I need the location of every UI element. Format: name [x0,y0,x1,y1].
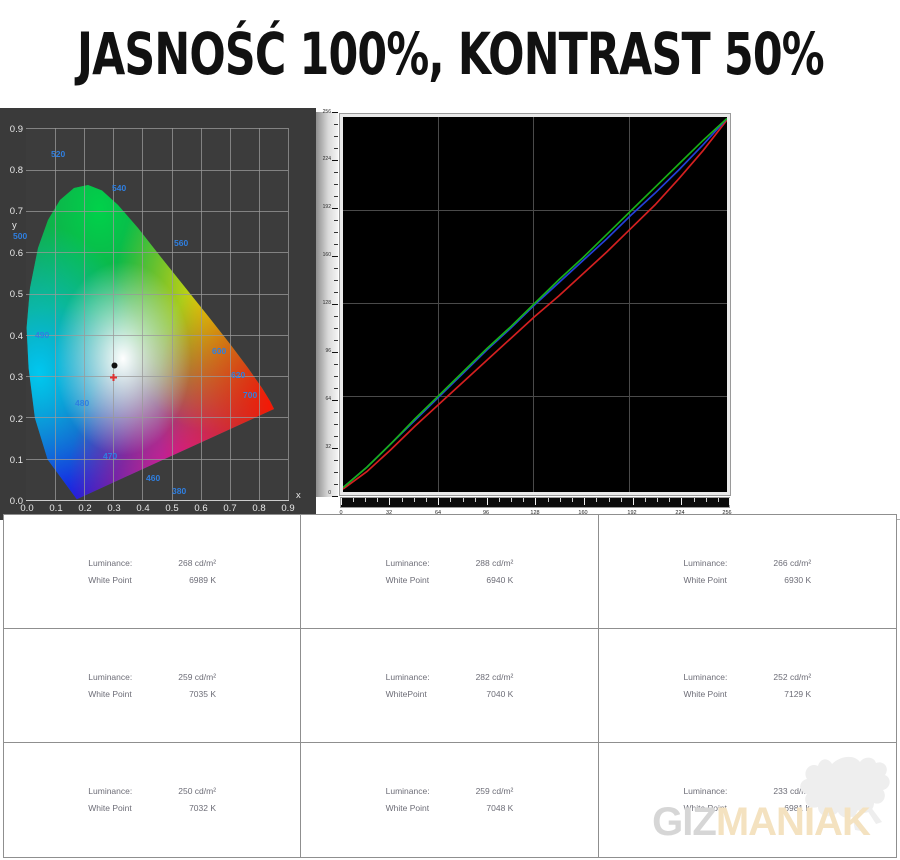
rgb-y-tick-224: 224 [323,157,331,162]
cie-y-tick-7: 0.7 [2,206,23,217]
cie-y-tick-6: 0.6 [2,248,23,259]
measurement-cell-6: Luminance:252 cd/m² White Point7129 K [599,629,896,743]
rgb-y-tick-32: 32 [325,445,331,450]
whitepoint-label: White Point [88,572,178,589]
cie-y-tick-1: 0.1 [2,455,23,466]
whitepoint-value: 7032 K [178,800,216,817]
whitepoint-value: 7129 K [773,686,811,703]
luminance-label: Luminance: [88,555,178,572]
cie-y-tick-3: 0.3 [2,372,23,383]
cie-x-tick-9: 0.9 [277,503,299,514]
rgb-curves [343,117,727,492]
cie-x-tick-7: 0.7 [219,503,241,514]
cie-plot-area [26,128,288,500]
luminance-label: Luminance: [386,783,476,800]
measurement-cell-2: Luminance:288 cd/m² White Point6940 K [301,515,598,629]
cie-chromaticity-panel: y x [0,108,316,520]
whitepoint-value: 6981 K [773,800,811,817]
wavelength-label-520: 520 [51,149,65,159]
cie-x-tick-0: 0.0 [16,503,38,514]
cie-x-axis-title: x [296,490,301,501]
cie-x-tick-6: 0.6 [190,503,212,514]
measurement-cell-8: Luminance:259 cd/m² White Point7048 K [301,743,598,857]
title-bar: JASNOŚĆ 100%, KONTRAST 50% [0,0,900,108]
whitepoint-label: White Point [683,800,773,817]
wavelength-label-540: 540 [112,183,126,193]
cie-y-tick-4: 0.4 [2,331,23,342]
cie-x-tick-8: 0.8 [248,503,270,514]
rgb-levels-panel: 256 224 192 160 128 96 64 [316,108,900,520]
wavelength-label-500: 500 [13,231,27,241]
whitepoint-value: 7035 K [178,686,216,703]
rgb-y-tick-0: 0 [328,491,331,496]
wavelength-label-560: 560 [174,238,188,248]
cie-x-tick-4: 0.4 [132,503,154,514]
whitepoint-label: White Point [386,572,476,589]
luminance-value: 259 cd/m² [178,669,216,686]
luminance-value: 259 cd/m² [476,783,514,800]
whitepoint-value: 7048 K [476,800,514,817]
luminance-value: 288 cd/m² [476,555,514,572]
luminance-label: Luminance: [386,669,476,686]
measurement-grid: Luminance:268 cd/m² White Point6989 K Lu… [3,514,897,858]
luminance-label: Luminance: [386,555,476,572]
wavelength-label-620: 620 [231,370,245,380]
luminance-value: 250 cd/m² [178,783,216,800]
rgb-x-ruler [340,497,730,508]
wavelength-label-380: 380 [172,486,186,496]
rgb-y-tick-128: 128 [323,301,331,306]
measurement-cell-9: Luminance:233 cd/m² White Point6981 K [599,743,896,857]
wavelength-label-700: 700 [243,390,257,400]
wavelength-label-470: 470 [103,451,117,461]
wavelength-label-490: 490 [35,330,49,340]
wavelength-label-480: 480 [75,398,89,408]
whitepoint-value: 7040 K [476,686,514,703]
luminance-value: 266 cd/m² [773,555,811,572]
rgb-y-tick-160: 160 [323,253,331,258]
rgb-y-tick-192: 192 [323,205,331,210]
measurement-cell-4: Luminance:259 cd/m² White Point7035 K [4,629,301,743]
measurement-cell-7: Luminance:250 cd/m² White Point7032 K [4,743,301,857]
page-title: JASNOŚĆ 100%, KONTRAST 50% [77,25,824,83]
luminance-value: 282 cd/m² [476,669,514,686]
wavelength-label-460: 460 [146,473,160,483]
cie-y-tick-9: 0.9 [2,124,23,135]
luminance-value: 252 cd/m² [773,669,811,686]
rgb-plot-area [340,114,730,495]
rgb-y-tick-96: 96 [325,349,331,354]
cie-gamut-shape [26,128,288,500]
measurement-panels: y x [0,108,900,520]
rgb-curve-green [343,118,727,487]
whitepoint-label: White Point [386,800,476,817]
whitepoint-label: White Point [88,800,178,817]
measurement-cell-5: Luminance:282 cd/m² WhitePoint7040 K [301,629,598,743]
wavelength-label-600: 600 [212,346,226,356]
luminance-label: Luminance: [683,555,773,572]
rgb-y-tick-256: 256 [323,110,331,115]
cie-x-tick-2: 0.2 [74,503,96,514]
luminance-value: 268 cd/m² [178,555,216,572]
luminance-value: 233 cd/m² [773,783,811,800]
whitepoint-value: 6940 K [476,572,514,589]
whitepoint-value: 6989 K [178,572,216,589]
whitepoint-value: 6930 K [773,572,811,589]
cie-y-tick-5: 0.5 [2,289,23,300]
measurement-cell-3: Luminance:266 cd/m² White Point6930 K [599,515,896,629]
measured-white-point-marker [111,362,118,369]
cie-y-axis-title: y [12,220,17,231]
cie-y-tick-8: 0.8 [2,165,23,176]
luminance-label: Luminance: [683,783,773,800]
whitepoint-label: White Point [683,572,773,589]
whitepoint-label: WhitePoint [386,686,476,703]
rgb-y-tick-64: 64 [325,397,331,402]
cie-y-tick-2: 0.2 [2,414,23,425]
cie-x-axis-line [26,500,289,501]
whitepoint-label: White Point [88,686,178,703]
cie-x-tick-3: 0.3 [103,503,125,514]
luminance-label: Luminance: [88,783,178,800]
luminance-label: Luminance: [88,669,178,686]
reference-white-point-marker [110,374,117,381]
luminance-label: Luminance: [683,669,773,686]
cie-x-tick-5: 0.5 [161,503,183,514]
cie-x-tick-1: 0.1 [45,503,67,514]
rgb-y-ruler: 256 224 192 160 128 96 64 [316,112,338,497]
measurement-cell-1: Luminance:268 cd/m² White Point6989 K [4,515,301,629]
whitepoint-label: White Point [683,686,773,703]
